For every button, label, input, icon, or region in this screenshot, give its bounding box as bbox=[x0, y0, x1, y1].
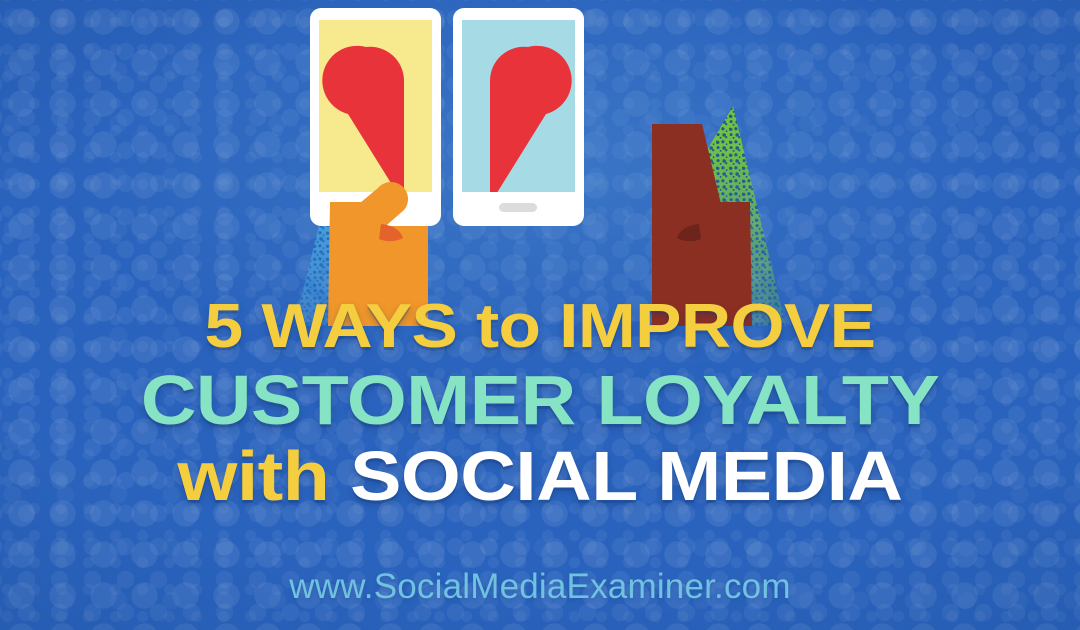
headline-line-1: 5 WAYS to IMPROVE bbox=[0, 297, 1080, 358]
headline-line-3-part-1: with bbox=[177, 437, 329, 515]
headline-line-1-part-3: IMPROVE bbox=[540, 292, 875, 361]
headline-line-1-part-2: to bbox=[476, 292, 540, 361]
headline-line-3: with SOCIAL MEDIA bbox=[0, 442, 1080, 511]
headline-line-3-part-2: SOCIAL MEDIA bbox=[329, 437, 902, 515]
site-url: www.SocialMediaExaminer.com bbox=[0, 567, 1080, 607]
headline-line-2: CUSTOMER LOYALTY bbox=[0, 366, 1080, 435]
headline-block: 5 WAYS to IMPROVE CUSTOMER LOYALTY with … bbox=[0, 297, 1080, 511]
right-phone bbox=[453, 8, 584, 226]
hands-phones-heart-illustration bbox=[286, 0, 794, 326]
headline-line-1-part-1: 5 WAYS bbox=[205, 292, 476, 361]
graphic-canvas: 5 WAYS to IMPROVE CUSTOMER LOYALTY with … bbox=[0, 0, 1080, 630]
right-phone-home-button bbox=[499, 203, 537, 212]
